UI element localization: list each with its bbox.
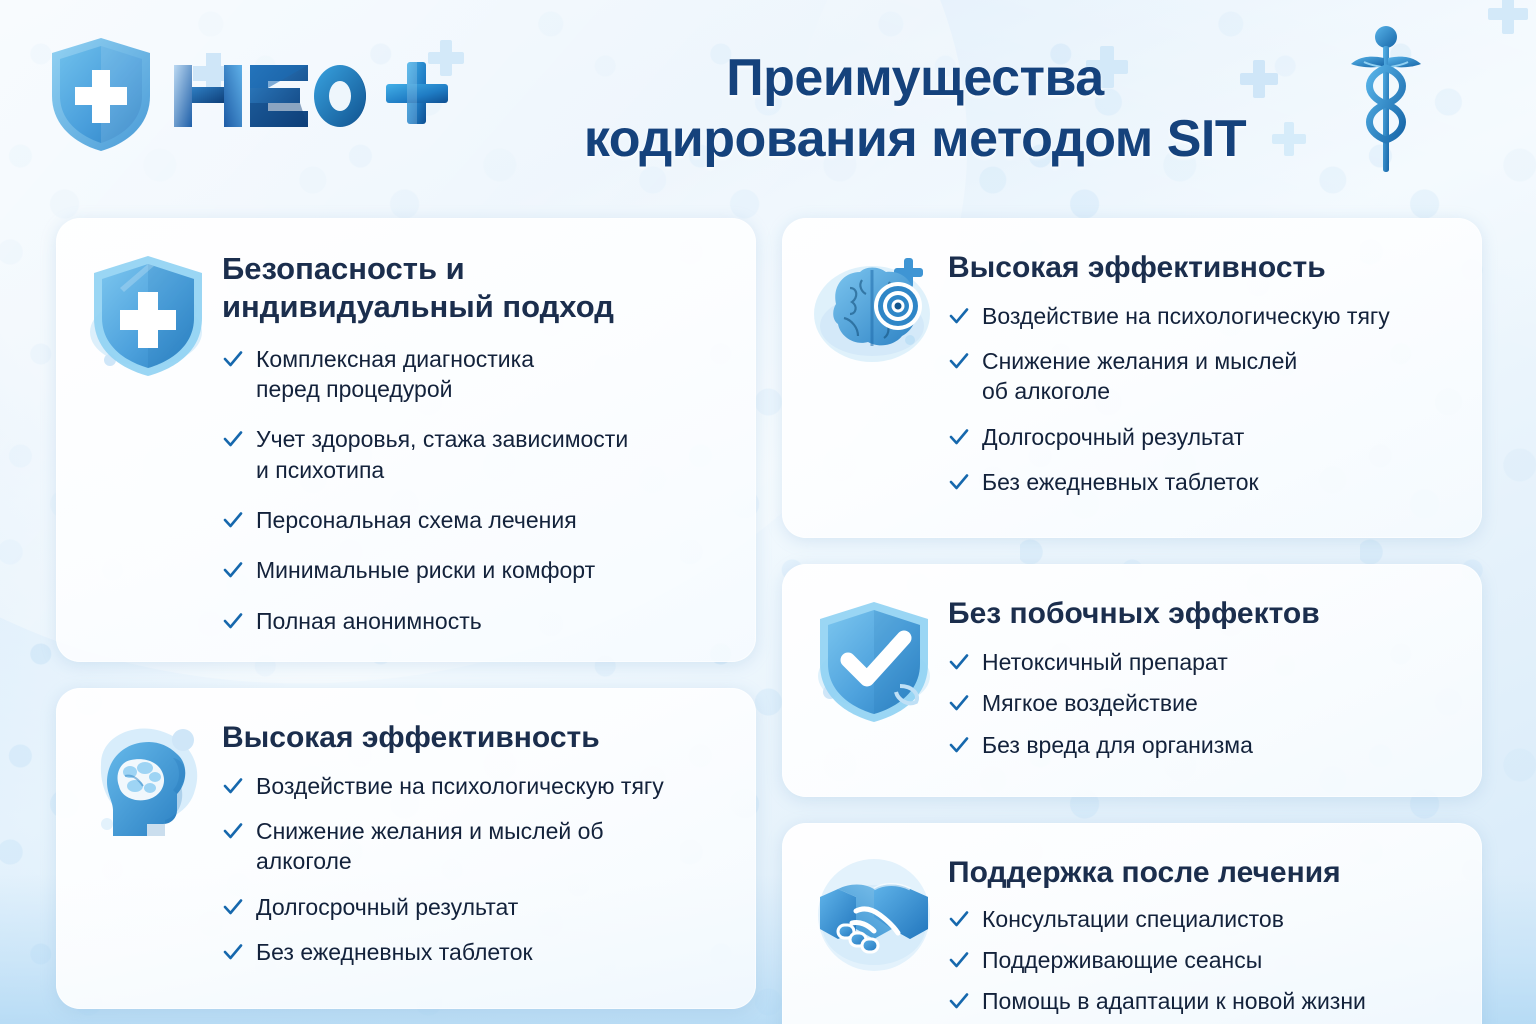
list-item-text: Без ежедневных таблеток: [256, 937, 533, 967]
shield-check-icon: [812, 594, 936, 730]
list-item-text: Поддерживающие сеансы: [982, 945, 1262, 975]
right-column: Высокая эффективность Воздействие на пси…: [782, 218, 1482, 1024]
benefits-grid: Безопасность и индивидуальный подход Ком…: [0, 218, 1536, 1024]
list-item: Помощь в адаптации к новой жизни: [948, 986, 1452, 1016]
list-item: Без ежедневных таблеток: [222, 937, 726, 967]
check-icon: [948, 988, 970, 1014]
check-icon: [222, 818, 244, 844]
card-safety: Безопасность и индивидуальный подход Ком…: [56, 218, 756, 662]
list-item: Нетоксичный препарат: [948, 647, 1452, 677]
card-title: Высокая эффективность: [222, 720, 726, 757]
check-icon: [222, 773, 244, 799]
list-item-text: Долгосрочный результат: [256, 892, 518, 922]
list-item-text: Консультации специалистов: [982, 904, 1284, 934]
list-item-text: Минимальные риски и комфорт: [256, 555, 595, 585]
list-item-text: Воздействие на психологическую тягу: [982, 301, 1390, 331]
check-icon: [222, 939, 244, 965]
left-column: Безопасность и индивидуальный подход Ком…: [56, 218, 756, 1024]
bullet-list: Воздействие на психологическую тягу Сниж…: [948, 301, 1452, 498]
list-item-text: Без ежедневных таблеток: [982, 467, 1259, 497]
card-icon-wrap: [808, 849, 940, 1024]
bullet-list: Воздействие на психологическую тягу Сниж…: [222, 771, 726, 968]
brand-wordmark: [168, 51, 454, 137]
check-icon: [222, 346, 244, 372]
card-body: Без побочных эффектов Нетоксичный препар…: [948, 590, 1452, 771]
list-item: Полная анонимность: [222, 606, 726, 636]
shield-cross-icon: [84, 248, 212, 388]
check-icon: [948, 424, 970, 450]
card-body: Поддержка после лечения Консультации спе…: [948, 849, 1452, 1024]
list-item: Учет здоровья, стажа зависимости и психо…: [222, 424, 726, 485]
list-item-text: Долгосрочный результат: [982, 422, 1244, 452]
card-icon-wrap: [808, 590, 940, 771]
check-icon: [222, 894, 244, 920]
list-item-text: Воздействие на психологическую тягу: [256, 771, 664, 801]
shield-cross-icon: [46, 34, 156, 154]
card-effectiveness-right: Высокая эффективность Воздействие на пси…: [782, 218, 1482, 538]
check-icon: [222, 608, 244, 634]
card-no-side-effects: Без побочных эффектов Нетоксичный препар…: [782, 564, 1482, 797]
check-icon: [948, 906, 970, 932]
card-body: Высокая эффективность Воздействие на пси…: [222, 714, 726, 982]
list-item: Мягкое воздействие: [948, 688, 1452, 718]
list-item: Снижение желания и мыслей об алкоголе: [222, 816, 726, 877]
list-item: Поддерживающие сеансы: [948, 945, 1452, 975]
check-icon: [948, 947, 970, 973]
bullet-list: Консультации специалистов Поддерживающие…: [948, 904, 1452, 1017]
list-item-text: Комплексная диагностика перед процедурой: [256, 344, 534, 405]
list-item: Воздействие на психологическую тягу: [222, 771, 726, 801]
caduceus-icon: [1348, 24, 1424, 176]
check-icon: [948, 732, 970, 758]
neo-plus-logo-icon: [168, 51, 386, 137]
bullet-list: Нетоксичный препарат Мягкое воздействие …: [948, 647, 1452, 760]
list-item: Консультации специалистов: [948, 904, 1452, 934]
list-item: Без вреда для организма: [948, 730, 1452, 760]
list-item: Персональная схема лечения: [222, 505, 726, 535]
bullet-list: Комплексная диагностика перед процедурой…: [222, 344, 726, 637]
list-item: Снижение желания и мыслей об алкоголе: [948, 346, 1452, 407]
list-item: Воздействие на психологическую тягу: [948, 301, 1452, 331]
list-item-text: Мягкое воздействие: [982, 688, 1198, 718]
card-title: Высокая эффективность: [948, 250, 1452, 287]
list-item-text: Учет здоровья, стажа зависимости и психо…: [256, 424, 628, 485]
check-icon: [222, 557, 244, 583]
plus-logo-icon: [382, 56, 454, 132]
brain-target-icon: [810, 248, 938, 378]
infographic-poster: Преимущества кодирования методом SIT: [0, 0, 1536, 1024]
title-line-1: Преимущества: [414, 48, 1416, 109]
check-icon: [948, 469, 970, 495]
handshake-icon: [812, 853, 936, 977]
list-item-text: Помощь в адаптации к новой жизни: [982, 986, 1366, 1016]
card-title: Без побочных эффектов: [948, 596, 1452, 633]
card-icon-wrap: [82, 714, 214, 982]
card-body: Высокая эффективность Воздействие на пси…: [948, 244, 1452, 512]
list-item-text: Нетоксичный препарат: [982, 647, 1228, 677]
card-icon-wrap: [808, 244, 940, 512]
list-item-text: Снижение желания и мыслей об алкоголе: [256, 816, 604, 877]
list-item-text: Без вреда для организма: [982, 730, 1253, 760]
check-icon: [948, 690, 970, 716]
card-title: Безопасность и индивидуальный подход: [222, 250, 726, 326]
list-item: Без ежедневных таблеток: [948, 467, 1452, 497]
check-icon: [948, 649, 970, 675]
head-brain-icon: [85, 724, 211, 854]
card-icon-wrap: [82, 244, 214, 636]
list-item-text: Снижение желания и мыслей об алкоголе: [982, 346, 1297, 407]
title-line-2: кодирования методом SIT: [414, 109, 1416, 170]
check-icon: [222, 426, 244, 452]
list-item: Долгосрочный результат: [948, 422, 1452, 452]
list-item-text: Персональная схема лечения: [256, 505, 577, 535]
list-item: Комплексная диагностика перед процедурой: [222, 344, 726, 405]
card-effectiveness-left: Высокая эффективность Воздействие на пси…: [56, 688, 756, 1008]
list-item: Долгосрочный результат: [222, 892, 726, 922]
check-icon: [948, 303, 970, 329]
card-body: Безопасность и индивидуальный подход Ком…: [222, 244, 726, 636]
check-icon: [948, 348, 970, 374]
list-item: Минимальные риски и комфорт: [222, 555, 726, 585]
card-support: Поддержка после лечения Консультации спе…: [782, 823, 1482, 1024]
poster-header: Преимущества кодирования методом SIT: [0, 0, 1536, 218]
brand-logo: [46, 34, 454, 154]
card-title: Поддержка после лечения: [948, 855, 1452, 892]
check-icon: [222, 507, 244, 533]
list-item-text: Полная анонимность: [256, 606, 482, 636]
